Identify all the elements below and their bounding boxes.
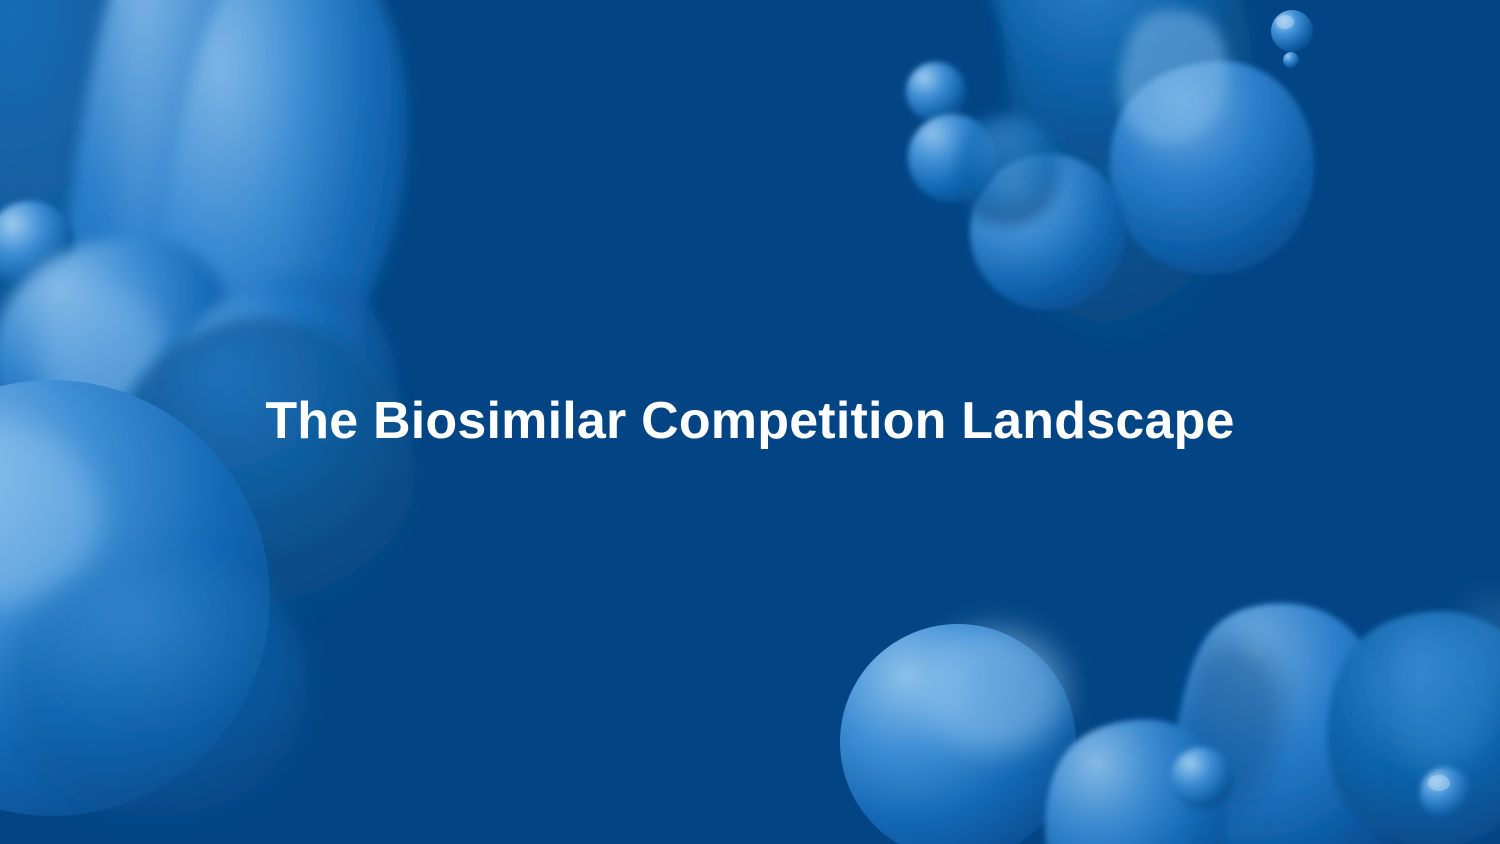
slide-canvas: The Biosimilar Competition Landscape bbox=[0, 0, 1500, 844]
title-container: The Biosimilar Competition Landscape bbox=[0, 0, 1500, 844]
page-title: The Biosimilar Competition Landscape bbox=[265, 392, 1234, 452]
